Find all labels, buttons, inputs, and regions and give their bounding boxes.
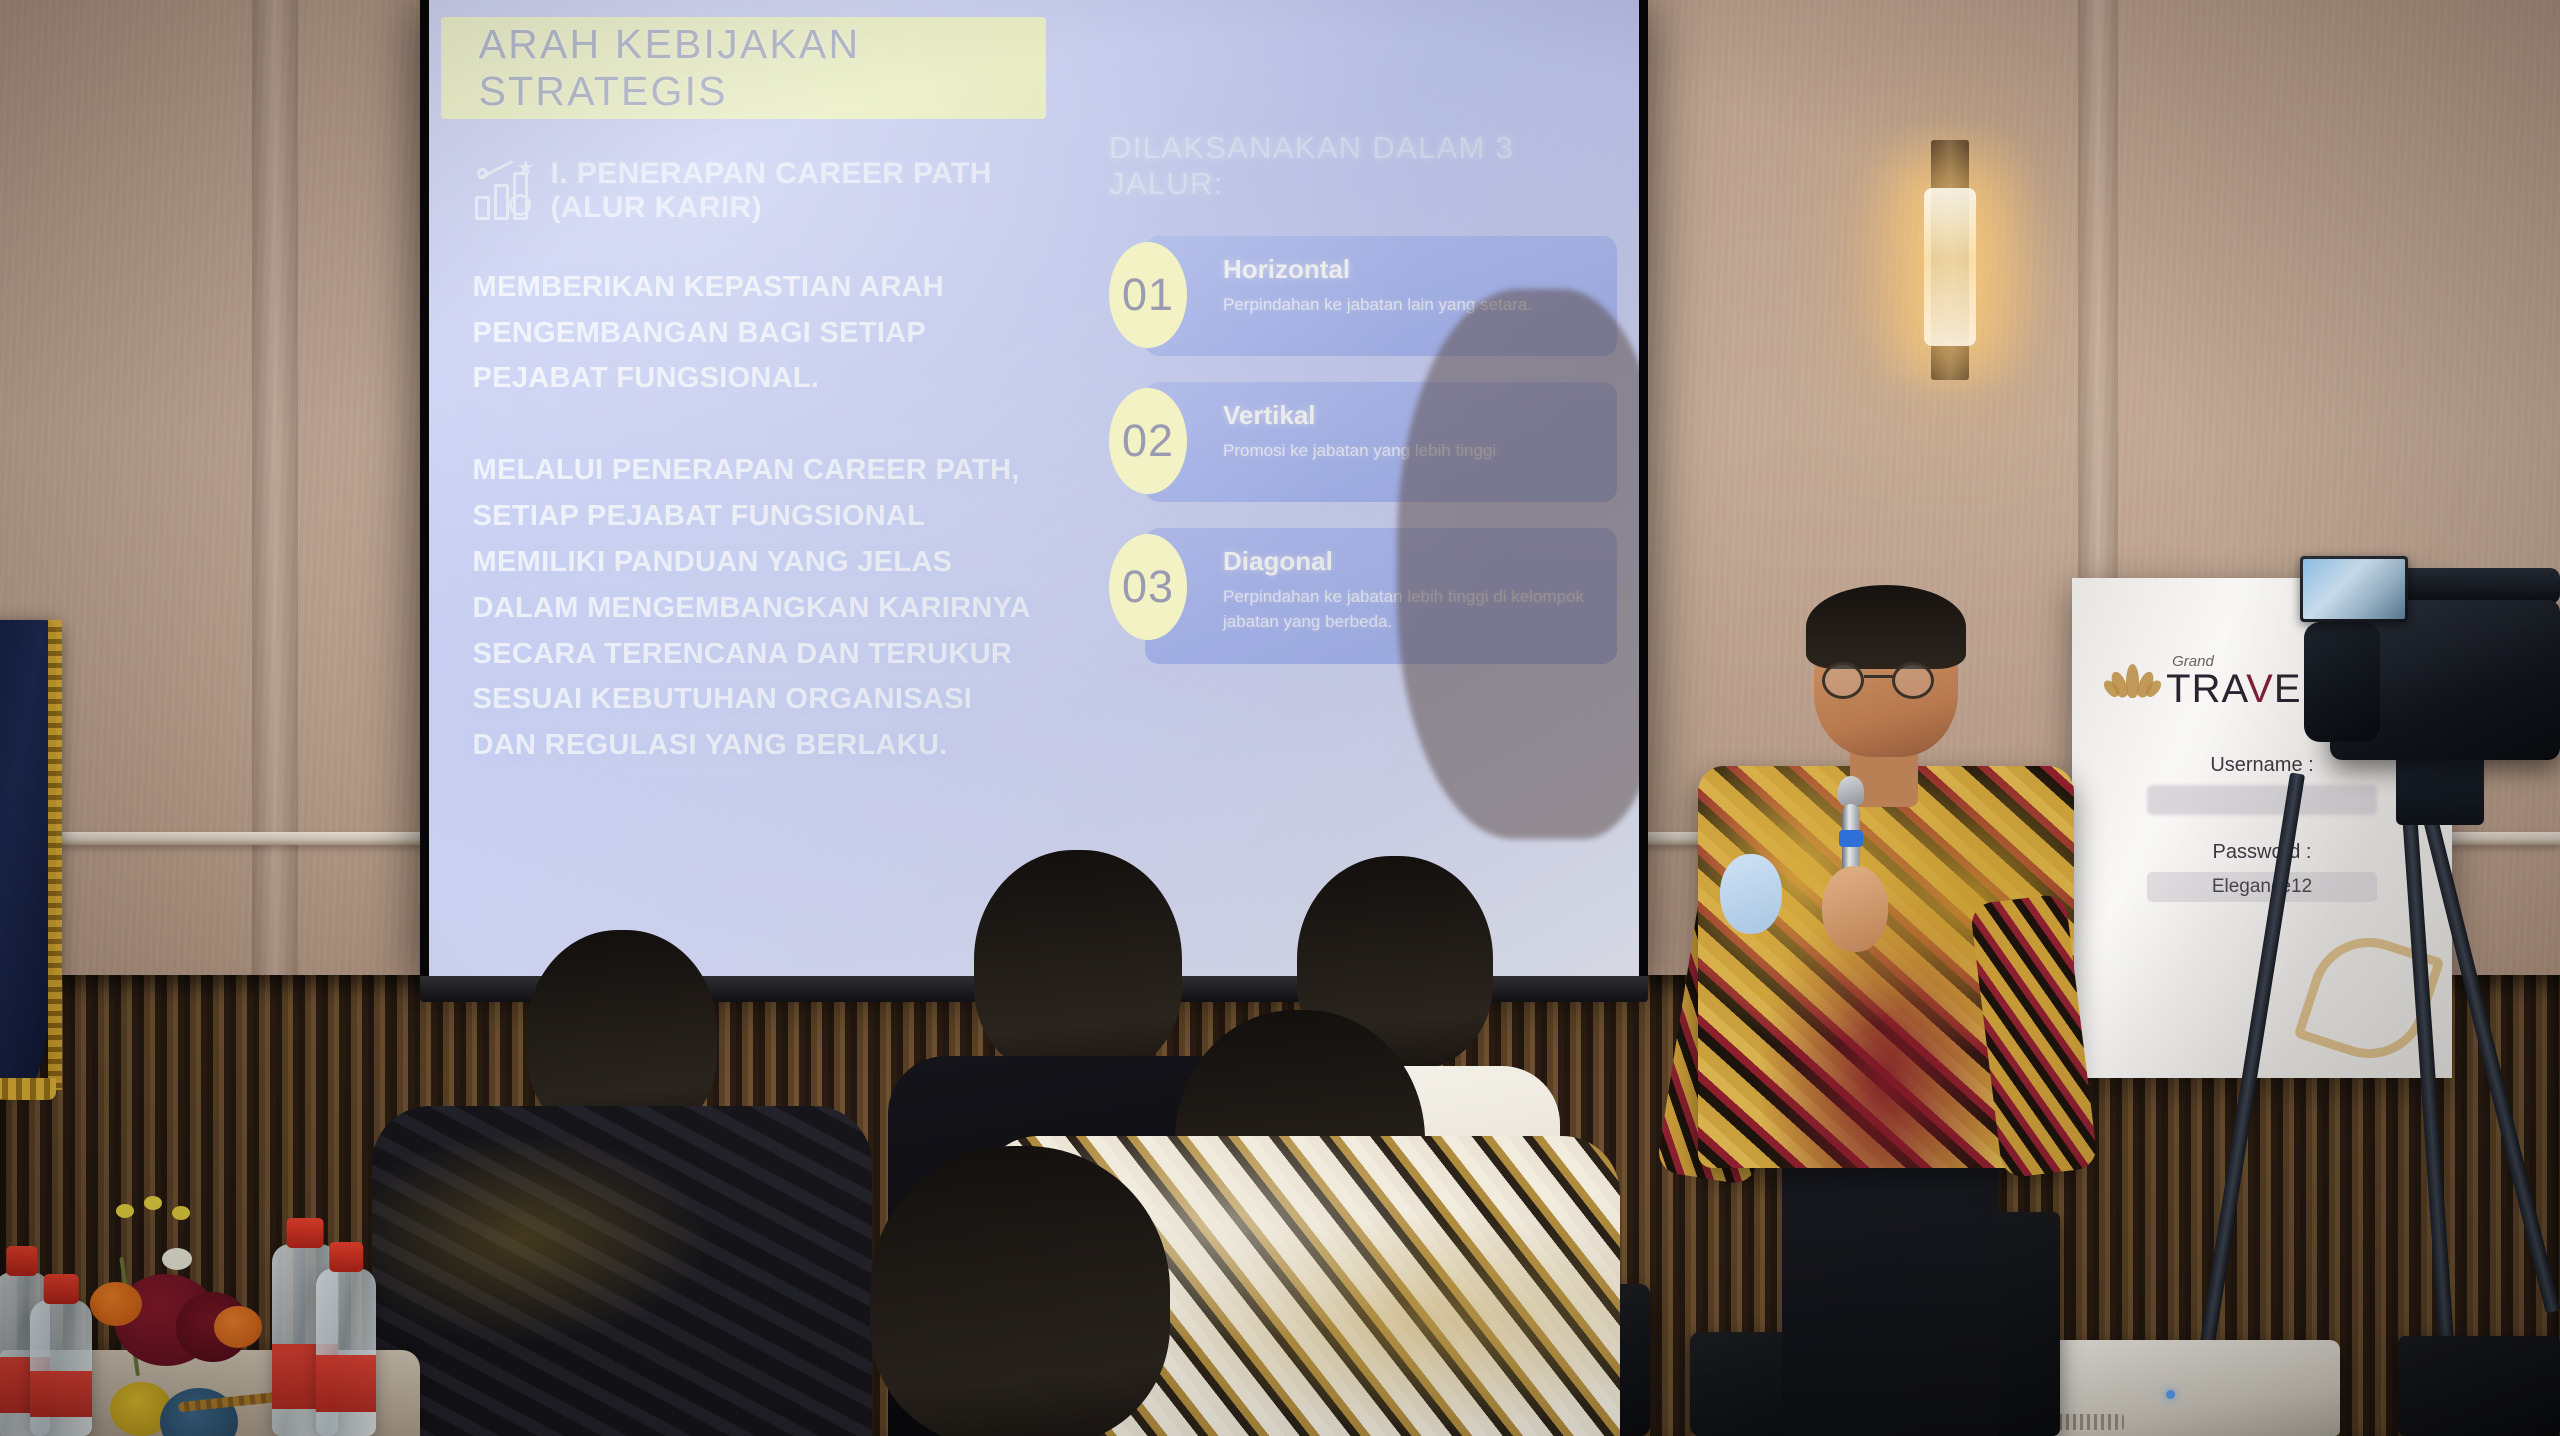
jalur-title-01: Horizontal bbox=[1223, 254, 1591, 285]
flower-yellow-sprig-2 bbox=[144, 1196, 162, 1210]
presenter-hair bbox=[1806, 585, 1966, 669]
water-bottle-2 bbox=[30, 1300, 92, 1436]
eyeglasses-left-lens bbox=[1822, 662, 1864, 699]
microphone-blue-band bbox=[1839, 830, 1863, 847]
wifi-username-value bbox=[2147, 785, 2377, 815]
presenter bbox=[1686, 598, 2086, 1436]
wall-sconce-lamp bbox=[1905, 140, 1995, 380]
ceremonial-flag bbox=[0, 620, 56, 1090]
camera-lens bbox=[2304, 622, 2380, 742]
jalur-number-02: 02 bbox=[1109, 388, 1187, 494]
flower-yellow-sprig bbox=[116, 1204, 134, 1218]
presenter-hand-shadow bbox=[1397, 289, 1639, 838]
presenter-gesturing-hand bbox=[1720, 854, 1782, 934]
eyeglasses-bridge bbox=[1864, 675, 1893, 678]
slide-left-paragraph-1: MEMBERIKAN KEPASTIAN ARAH PENGEMBANGAN B… bbox=[473, 265, 1042, 402]
bottle-label-4 bbox=[316, 1355, 376, 1412]
bottle-cap-2 bbox=[44, 1274, 79, 1304]
bottle-label-2 bbox=[30, 1371, 92, 1417]
jalur-number-01: 01 bbox=[1109, 242, 1187, 348]
wifi-password-value: Elegance12 bbox=[2147, 872, 2377, 902]
career-growth-chart-icon: ★ bbox=[473, 160, 535, 222]
slide-left-paragraph-2: MELALUI PENERAPAN CAREER PATH, SETIAP PE… bbox=[473, 448, 1042, 769]
eyeglasses-right-lens bbox=[1892, 662, 1934, 699]
presentation-slide: ARAH KEBIJAKAN STRATEGIS ★ I. PENERAPAN … bbox=[429, 0, 1639, 976]
flag-fringe-bottom bbox=[0, 1078, 56, 1100]
slide-title-text: ARAH KEBIJAKAN STRATEGIS bbox=[479, 21, 1047, 115]
attendee-foreground-head bbox=[870, 1146, 1170, 1436]
slide-right-heading: DILAKSANAKAN DALAM 3 JALUR: bbox=[1109, 130, 1617, 202]
sconce-glass-tube bbox=[1924, 188, 1976, 346]
flower-orange-2 bbox=[214, 1306, 262, 1348]
bottle-cap-1 bbox=[6, 1246, 37, 1276]
slide-left-column: ★ I. PENERAPAN CAREER PATH (ALUR KARIR) … bbox=[473, 157, 1042, 815]
presenter-mic-hand bbox=[1822, 866, 1888, 952]
jalur-number-03: 03 bbox=[1109, 534, 1187, 640]
conference-presentation-photo: ARAH KEBIJAKAN STRATEGIS ★ I. PENERAPAN … bbox=[0, 0, 2560, 1436]
slide-title-banner: ARAH KEBIJAKAN STRATEGIS bbox=[441, 17, 1046, 119]
slide-left-heading: I. PENERAPAN CAREER PATH (ALUR KARIR) bbox=[551, 157, 1042, 225]
microphone-head bbox=[1838, 776, 1864, 806]
slide-left-heading-row: ★ I. PENERAPAN CAREER PATH (ALUR KARIR) bbox=[473, 157, 1042, 225]
lotus-icon bbox=[2106, 660, 2158, 704]
bottle-cap-3 bbox=[287, 1218, 324, 1248]
attendee-foreground bbox=[740, 1146, 1300, 1436]
flower-blue-bloom bbox=[160, 1388, 238, 1436]
projection-screen: ARAH KEBIJAKAN STRATEGIS ★ I. PENERAPAN … bbox=[420, 0, 1648, 976]
projector-led bbox=[2166, 1390, 2175, 1399]
camera-lcd-screen bbox=[2300, 556, 2408, 622]
water-bottle-4 bbox=[316, 1268, 376, 1436]
flower-white-spray bbox=[162, 1248, 192, 1270]
flower-yellow-sprig-3 bbox=[172, 1206, 190, 1220]
flag-fringe-side bbox=[48, 620, 62, 1090]
wifi-password-label: Password : bbox=[2102, 841, 2421, 864]
flower-orange-1 bbox=[90, 1282, 142, 1326]
floral-centerpiece bbox=[58, 1196, 308, 1436]
bottle-cap-4 bbox=[329, 1242, 363, 1272]
monitor-panel-right bbox=[2398, 1336, 2560, 1436]
